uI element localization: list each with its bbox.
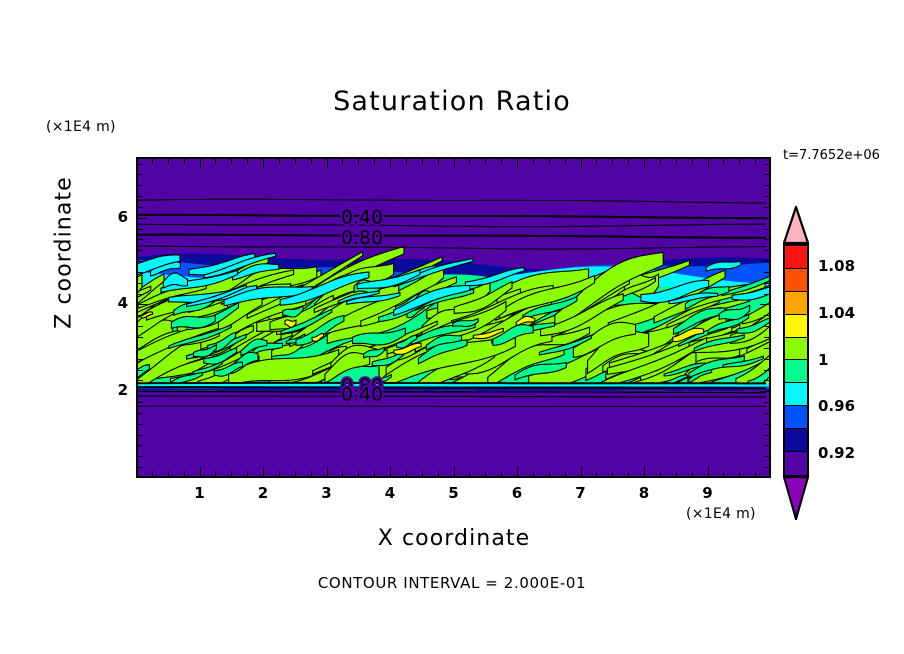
y-axis-tick (138, 164, 143, 165)
x-axis-tick (327, 467, 328, 476)
colorbar-band (785, 246, 807, 269)
y-axis-tick (138, 218, 147, 219)
y-axis-tick (138, 424, 143, 425)
colorbar-over-arrow-icon (783, 206, 809, 244)
y-axis-tick (764, 402, 769, 403)
contour-band (138, 389, 769, 391)
x-axis-tick (660, 471, 661, 476)
x-axis-tick (279, 471, 280, 476)
x-axis-tick (358, 159, 359, 164)
y-axis-tick (138, 337, 143, 338)
page-title: Saturation Ratio (0, 86, 904, 117)
y-axis-tick (138, 261, 143, 262)
colorbar-band (785, 452, 807, 475)
y-axis-unit-label: (×1E4 m) (46, 119, 116, 135)
y-axis-tick-label: 2 (102, 381, 128, 399)
x-axis-tick (485, 159, 486, 164)
y-axis-tick (764, 239, 769, 240)
x-axis-tick (565, 159, 566, 164)
x-axis-tick (184, 471, 185, 476)
y-axis-tick (138, 391, 147, 392)
x-axis-tick (723, 159, 724, 164)
x-axis-tick (676, 159, 677, 164)
x-axis-tick (739, 471, 740, 476)
x-axis-tick-label: 7 (566, 484, 596, 502)
y-axis-tick (764, 185, 769, 186)
x-axis-tick (692, 159, 693, 164)
x-axis-tick (485, 471, 486, 476)
y-axis-tick (138, 456, 143, 457)
x-axis-tick-label: 9 (693, 484, 723, 502)
x-axis-unit-label: (×1E4 m) (686, 506, 756, 522)
x-axis-tick (517, 467, 518, 476)
x-axis-tick (311, 159, 312, 164)
contour-value-label: 0.80 (341, 228, 383, 249)
y-axis-tick (764, 174, 769, 175)
x-axis-tick (231, 471, 232, 476)
x-axis-tick (390, 159, 391, 168)
x-axis-tick (533, 159, 534, 164)
x-axis-tick-label: 3 (312, 484, 342, 502)
y-axis-tick (138, 370, 143, 371)
x-axis-tick (628, 471, 629, 476)
x-axis-tick (565, 471, 566, 476)
y-axis-tick (760, 218, 769, 219)
y-axis-tick (138, 380, 143, 381)
y-axis-tick-label: 4 (102, 294, 128, 312)
x-axis-tick-label: 8 (629, 484, 659, 502)
x-axis-tick (358, 471, 359, 476)
y-axis-tick (764, 283, 769, 284)
y-axis-tick (764, 196, 769, 197)
contour-line (138, 387, 766, 388)
x-axis-tick (422, 471, 423, 476)
x-axis-tick (263, 467, 264, 476)
x-axis-tick (517, 159, 518, 168)
y-axis-tick (138, 250, 143, 251)
x-axis-tick (311, 471, 312, 476)
y-axis-tick (138, 174, 143, 175)
field-background-lower (138, 391, 769, 476)
x-axis-tick (676, 471, 677, 476)
x-axis-tick-label: 5 (439, 484, 469, 502)
y-axis-tick (138, 359, 143, 360)
y-axis-tick (138, 283, 143, 284)
y-axis-tick (138, 348, 143, 349)
x-axis-tick (231, 159, 232, 164)
x-axis-tick (406, 159, 407, 164)
y-axis-tick (138, 402, 143, 403)
y-axis-tick (764, 294, 769, 295)
x-axis-tick (184, 159, 185, 164)
y-axis-tick (138, 207, 143, 208)
y-axis-tick (138, 315, 143, 316)
x-axis-tick (168, 471, 169, 476)
x-axis-tick (549, 471, 550, 476)
time-stamp-annotation: t=7.7652e+06 (783, 148, 880, 163)
x-axis-tick (263, 159, 264, 168)
x-axis-tick (422, 159, 423, 164)
y-axis-tick (764, 229, 769, 230)
x-axis-tick (739, 159, 740, 164)
colorbar-band (785, 360, 807, 383)
x-axis-tick (327, 159, 328, 168)
colorbar-band (785, 269, 807, 292)
x-axis-tick (581, 159, 582, 168)
x-axis-tick-label: 4 (375, 484, 405, 502)
x-axis-tick (708, 159, 709, 168)
y-axis-tick (764, 467, 769, 468)
y-axis-tick (764, 359, 769, 360)
y-axis-tick (138, 435, 143, 436)
y-axis-tick (138, 445, 143, 446)
y-axis-tick (764, 261, 769, 262)
y-axis-tick (764, 370, 769, 371)
contour-value-label: 0.40 (341, 208, 383, 229)
x-axis-title: X coordinate (136, 526, 772, 551)
figure-canvas: Saturation Ratio (×1E4 m) t=7.7652e+06 Z… (0, 0, 904, 654)
y-axis-tick (764, 413, 769, 414)
y-axis-tick-label: 6 (102, 208, 128, 226)
x-axis-tick (581, 467, 582, 476)
colorbar-tick-label: 0.92 (818, 444, 855, 462)
y-axis-tick (138, 294, 143, 295)
x-axis-tick (438, 159, 439, 164)
x-axis-tick (596, 471, 597, 476)
x-axis-tick (200, 159, 201, 168)
x-axis-tick (295, 159, 296, 164)
y-axis-tick (764, 272, 769, 273)
y-axis-tick (760, 391, 769, 392)
x-axis-tick (200, 467, 201, 476)
y-axis-tick (764, 337, 769, 338)
y-axis-tick (764, 207, 769, 208)
x-axis-tick (644, 467, 645, 476)
x-axis-tick (168, 159, 169, 164)
x-axis-tick (215, 159, 216, 164)
x-axis-tick (454, 467, 455, 476)
x-axis-tick-label: 1 (185, 484, 215, 502)
y-axis-tick (764, 326, 769, 327)
colorbar-tick-label: 1.08 (818, 257, 855, 275)
x-axis-tick (549, 159, 550, 164)
x-axis-tick (660, 159, 661, 164)
y-axis-tick (138, 185, 143, 186)
y-axis-tick (764, 348, 769, 349)
x-axis-tick (469, 471, 470, 476)
y-axis-tick (138, 196, 143, 197)
colorbar-band (785, 338, 807, 361)
colorbar-under-arrow-icon (783, 476, 809, 514)
y-axis-tick (138, 239, 143, 240)
colorbar-tick-label: 0.96 (818, 397, 855, 415)
x-axis-tick (247, 471, 248, 476)
x-axis-tick (692, 471, 693, 476)
colorbar-tick-label: 1 (818, 351, 828, 369)
x-axis-tick (279, 159, 280, 164)
x-axis-tick (533, 471, 534, 476)
x-axis-tick (755, 159, 756, 164)
y-axis-tick (138, 229, 143, 230)
y-axis-tick (138, 326, 143, 327)
colorbar-tick-label: 1.04 (818, 304, 855, 322)
colorbar-band (785, 315, 807, 338)
x-axis-tick (501, 159, 502, 164)
y-axis-tick (764, 445, 769, 446)
x-axis-tick (755, 471, 756, 476)
x-axis-tick (374, 471, 375, 476)
x-axis-tick (406, 471, 407, 476)
y-axis-tick (764, 456, 769, 457)
y-axis-tick (764, 424, 769, 425)
colorbar-band (785, 429, 807, 452)
y-axis-tick (764, 250, 769, 251)
contour-value-label: 0.40 (341, 385, 383, 406)
x-axis-tick (612, 159, 613, 164)
colorbar-band (785, 292, 807, 315)
x-axis-tick (644, 159, 645, 168)
y-axis-tick (764, 315, 769, 316)
y-axis-tick (138, 413, 143, 414)
x-axis-tick (708, 467, 709, 476)
colorbar (783, 244, 809, 477)
x-axis-tick (247, 159, 248, 164)
x-axis-tick (152, 159, 153, 164)
y-axis-title: Z coordinate (52, 153, 77, 353)
x-axis-tick (501, 471, 502, 476)
x-axis-tick (723, 471, 724, 476)
x-axis-tick-label: 6 (502, 484, 532, 502)
y-axis-tick (138, 272, 143, 273)
y-axis-tick (764, 380, 769, 381)
x-axis-tick (215, 471, 216, 476)
x-axis-tick (612, 471, 613, 476)
y-axis-tick (764, 435, 769, 436)
x-axis-tick (454, 159, 455, 168)
contour-field: 0.400.800.800.40 (138, 159, 769, 476)
colorbar-band (785, 383, 807, 406)
colorbar-band (785, 406, 807, 429)
y-axis-tick (764, 164, 769, 165)
x-axis-tick (342, 159, 343, 164)
y-axis-tick (138, 304, 147, 305)
x-axis-tick (438, 471, 439, 476)
x-axis-tick (390, 467, 391, 476)
x-axis-tick (342, 471, 343, 476)
x-axis-tick-label: 2 (248, 484, 278, 502)
contour-plot-area: 0.400.800.800.40 (136, 157, 771, 478)
x-axis-tick (596, 159, 597, 164)
y-axis-tick (138, 467, 143, 468)
x-axis-tick (469, 159, 470, 164)
x-axis-tick (152, 471, 153, 476)
y-axis-tick (760, 304, 769, 305)
x-axis-tick (295, 471, 296, 476)
x-axis-tick (628, 159, 629, 164)
x-axis-tick (374, 159, 375, 164)
contour-interval-note: CONTOUR INTERVAL = 2.000E-01 (0, 574, 904, 592)
